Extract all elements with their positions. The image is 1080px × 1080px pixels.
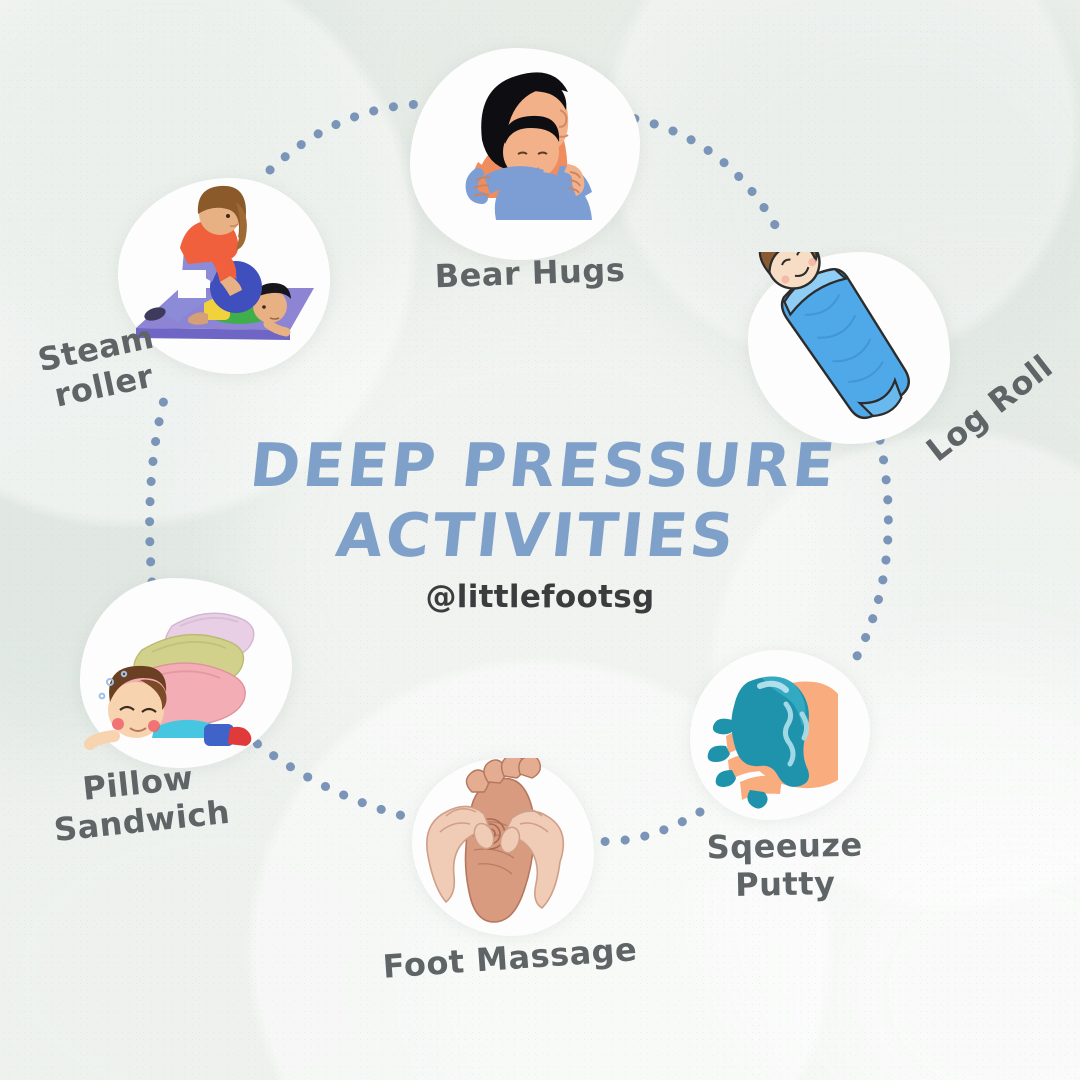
child-wrapped-in-blanket-icon — [748, 252, 950, 444]
label-bear-hugs: Bear Hugs — [419, 251, 640, 296]
hand-squeezing-putty-icon — [690, 650, 870, 820]
page-title: DEEP PRESSURE ACTIVITIES — [0, 432, 1080, 571]
connector-putty-footmassage — [585, 812, 700, 841]
node-foot-massage[interactable] — [412, 758, 594, 936]
infographic-canvas: Steam roller — [0, 0, 1080, 1080]
two-people-hugging-icon — [410, 48, 640, 260]
node-bear-hugs[interactable] — [410, 48, 640, 260]
center-text-block: DEEP PRESSURE ACTIVITIES @littlefootsg — [0, 432, 1080, 615]
label-sqeeuze-putty: Sqeeuze Putty — [689, 826, 880, 905]
account-handle: @littlefootsg — [0, 579, 1080, 615]
hands-massaging-foot-icon — [412, 758, 594, 936]
node-log-roll[interactable] — [748, 252, 950, 444]
node-sqeeuze-putty[interactable] — [690, 650, 870, 820]
